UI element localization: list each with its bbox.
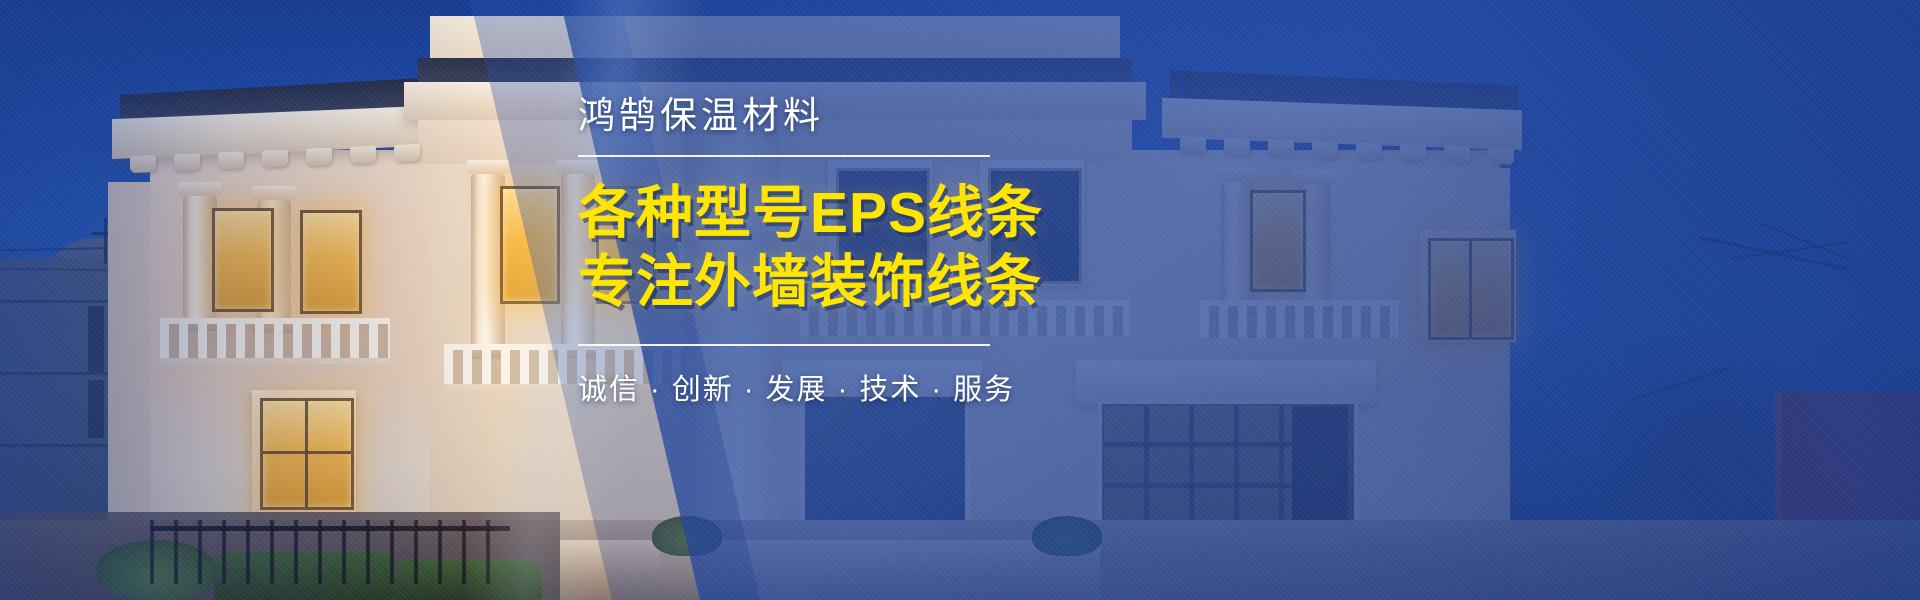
column-capital — [1216, 168, 1260, 182]
shrub — [1032, 516, 1102, 556]
dentil — [306, 148, 332, 166]
balustrade — [160, 318, 390, 364]
dentil — [1224, 138, 1250, 156]
window-lit — [260, 398, 354, 510]
shrub — [652, 516, 722, 556]
dentil — [130, 155, 156, 173]
dentil — [174, 153, 200, 171]
headline: 各种型号EPS线条 专注外墙装饰线条 — [578, 179, 1038, 318]
entry-steps — [560, 540, 1100, 600]
dentil — [218, 151, 244, 169]
dentil — [1444, 145, 1470, 163]
window-lit — [300, 210, 362, 314]
window-mullion — [263, 451, 351, 454]
tagline: 诚信 · 创新 · 发展 · 技术 · 服务 — [578, 366, 1038, 408]
dentil — [1400, 144, 1426, 162]
dentil — [262, 149, 288, 167]
brand-name: 鸿鹄保温材料 — [578, 96, 1038, 137]
column-capital — [178, 182, 222, 196]
garage-lintel — [1076, 360, 1376, 404]
window-mullion — [305, 401, 308, 507]
column-capital — [1292, 170, 1336, 184]
dentil — [1180, 136, 1206, 154]
center-roof-slab — [430, 16, 1120, 62]
window-lit — [212, 208, 274, 312]
window-lit — [1250, 190, 1306, 292]
distant-window — [88, 380, 104, 438]
window-lit — [1428, 238, 1514, 340]
dentil — [1312, 141, 1338, 159]
antenna-mast — [104, 218, 107, 264]
dentil — [1268, 139, 1294, 157]
divider-bottom — [578, 344, 990, 346]
banner-text-block: 鸿鹄保温材料 各种型号EPS线条 专注外墙装饰线条 诚信 · 创新 · 发展 ·… — [578, 96, 1038, 408]
iron-fence-rail — [150, 526, 510, 531]
dentil — [1356, 142, 1382, 160]
dentil — [350, 146, 376, 164]
window-lit — [500, 186, 560, 304]
divider-top — [578, 155, 990, 157]
dentil — [1488, 147, 1514, 165]
distant-window — [88, 306, 104, 372]
column-capital — [466, 160, 510, 174]
headline-line-2: 专注外墙装饰线条 — [578, 248, 1038, 318]
center-roof-shadow — [418, 58, 1132, 84]
balustrade — [1200, 300, 1400, 344]
dentil — [394, 144, 420, 162]
dentil-row-right — [1180, 142, 1514, 159]
headline-line-1: 各种型号EPS线条 — [578, 179, 1038, 249]
window-mullion — [1469, 241, 1472, 337]
column-capital — [252, 186, 296, 200]
promo-banner: 鸿鹄保温材料 各种型号EPS线条 专注外墙装饰线条 诚信 · 创新 · 发展 ·… — [0, 0, 1920, 600]
dentil-row-left — [130, 150, 420, 167]
